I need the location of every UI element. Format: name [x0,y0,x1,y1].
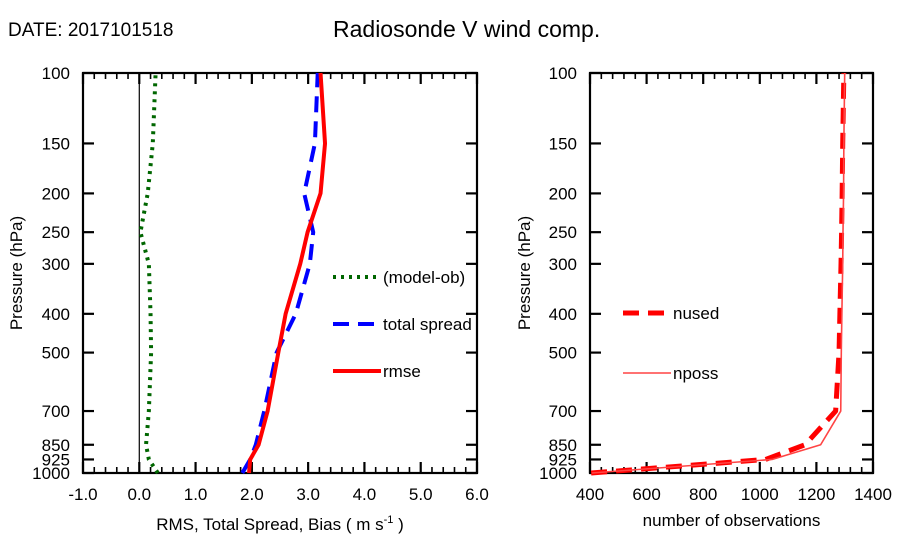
y-axis-title: Pressure (hPa) [515,216,534,330]
y-tick-label: 1000 [539,464,577,483]
y-tick-label: 400 [42,305,70,324]
x-axis-title: RMS, Total Spread, Bias ( m s-1 ) [156,514,404,534]
legend-label--model-ob-: (model-ob) [383,268,465,287]
y-tick-label: 700 [42,402,70,421]
legend-label-rmse: rmse [383,362,421,381]
y-tick-label: 150 [42,134,70,153]
y-tick-label: 300 [42,255,70,274]
x-tick-label: 1000 [741,485,779,504]
x-tick-label: 5.0 [409,485,433,504]
x-tick-label: 3.0 [296,485,320,504]
x-tick-label: 0.0 [127,485,151,504]
y-tick-label: 700 [549,402,577,421]
y-tick-label: 100 [42,64,70,83]
plots-svg: -1.00.01.02.03.04.05.06.0100150200250300… [0,0,900,560]
y-tick-label: 200 [549,184,577,203]
legend-label-nposs: nposs [673,364,718,383]
x-tick-label: 400 [576,485,604,504]
legend-label-nused: nused [673,304,719,323]
x-tick-label: 800 [689,485,717,504]
x-tick-label: 600 [632,485,660,504]
series--model-ob- [140,73,157,473]
x-tick-label: -1.0 [68,485,97,504]
x-tick-label: 1.0 [184,485,208,504]
series-total-spread [242,73,317,473]
series-nposs [592,73,845,473]
x-tick-label: 2.0 [240,485,264,504]
x-tick-label: 4.0 [353,485,377,504]
y-tick-label: 400 [549,305,577,324]
y-tick-label: 200 [42,184,70,203]
y-tick-label: 100 [549,64,577,83]
x-axis-title: number of observations [643,511,821,530]
y-tick-label: 150 [549,134,577,153]
y-tick-label: 250 [42,223,70,242]
y-tick-label: 250 [549,223,577,242]
y-tick-label: 500 [549,344,577,363]
y-tick-label: 500 [42,344,70,363]
x-tick-label: 6.0 [465,485,489,504]
series-nused [591,73,844,473]
chart-page: DATE: 2017101518 Radiosonde V wind comp.… [0,0,900,560]
chart-right: 4006008001000120014001001502002503004005… [515,64,892,530]
chart-left: -1.00.01.02.03.04.05.06.0100150200250300… [7,64,489,534]
y-tick-label: 1000 [32,464,70,483]
x-tick-label: 1200 [797,485,835,504]
y-tick-label: 300 [549,255,577,274]
legend-label-total-spread: total spread [383,315,472,334]
y-axis-title: Pressure (hPa) [7,216,26,330]
x-tick-label: 1400 [854,485,892,504]
